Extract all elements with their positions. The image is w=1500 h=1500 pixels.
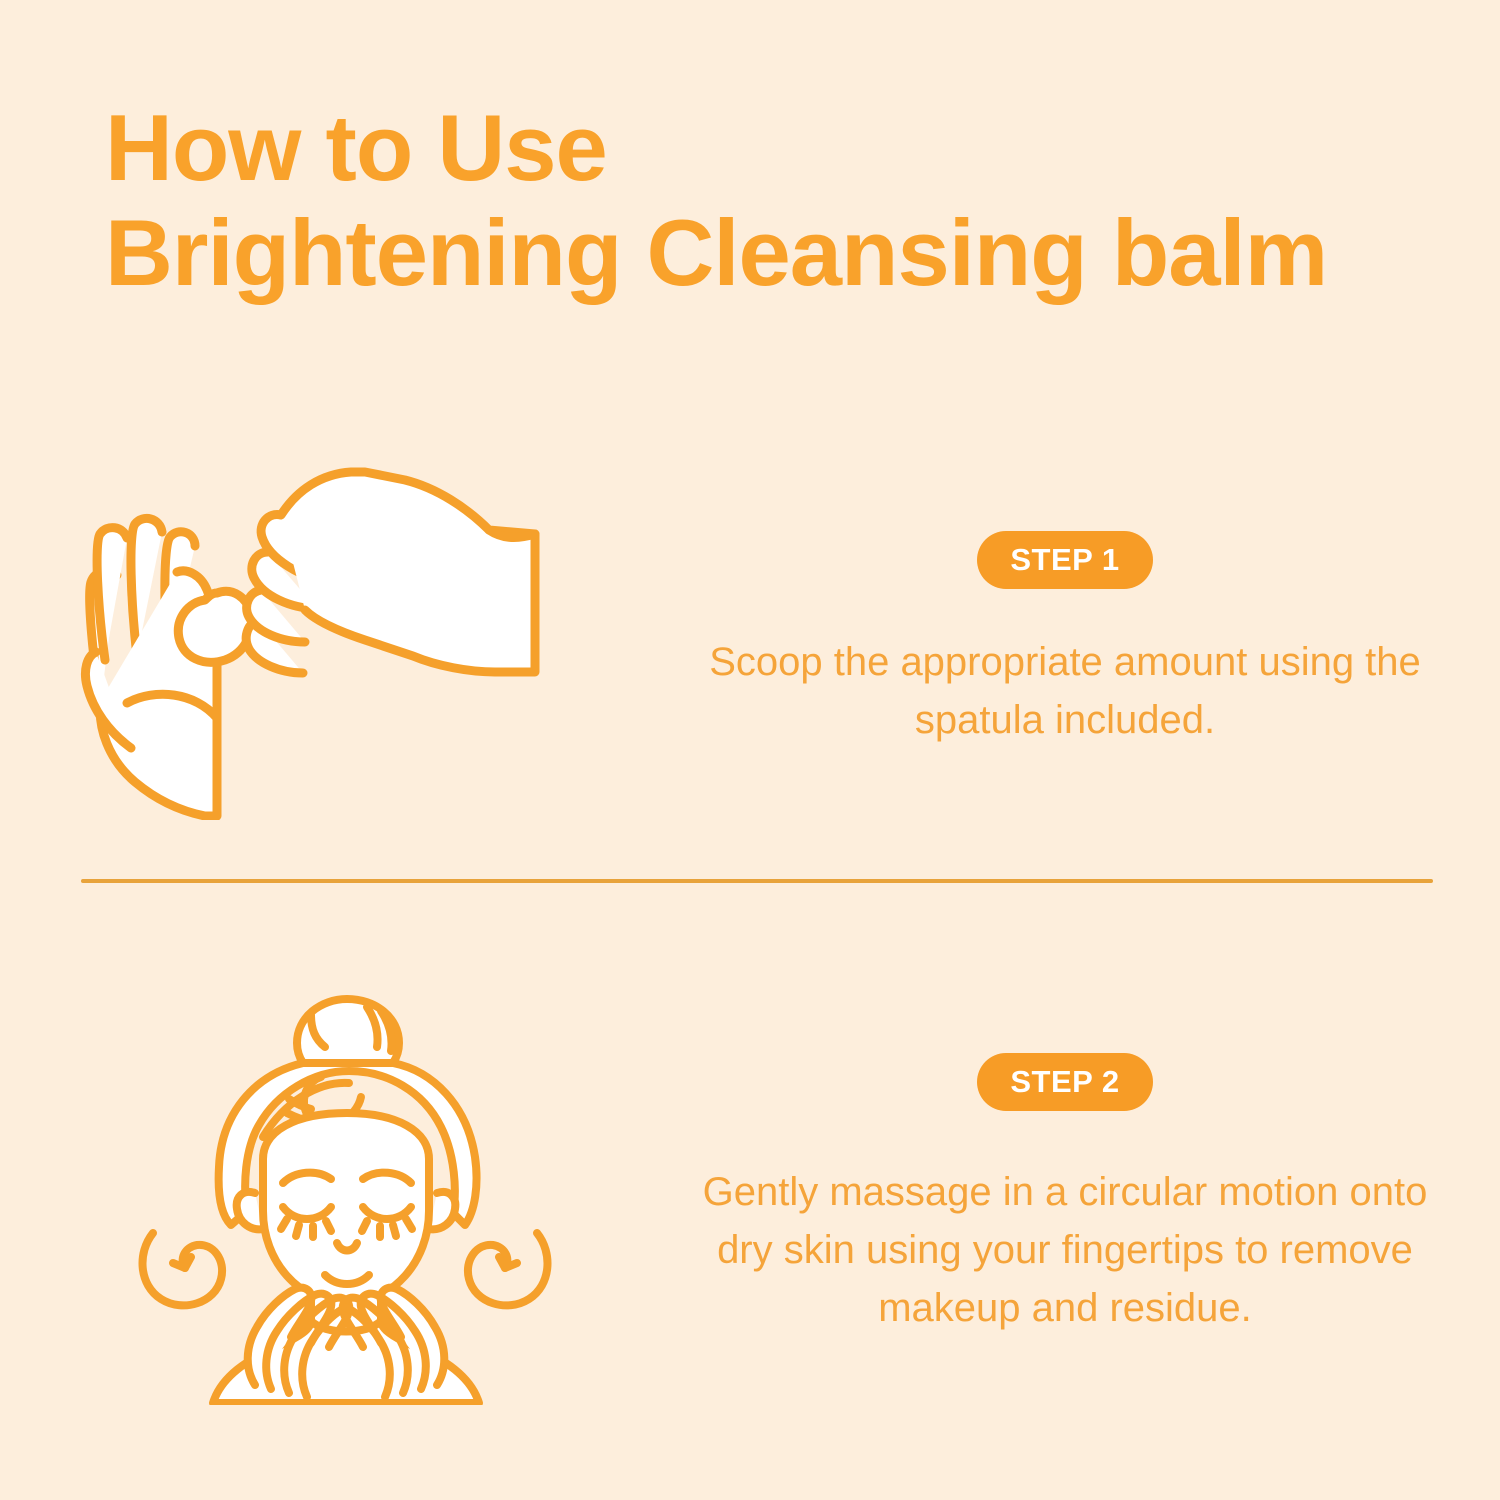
step-section-1: STEP 1 Scoop the appropriate amount usin… bbox=[0, 430, 1500, 850]
page-title-line-1: How to Use bbox=[105, 95, 1405, 200]
page-title-line-2: Brightening Cleansing balm bbox=[105, 200, 1405, 305]
step-1-illustration-container bbox=[0, 460, 690, 820]
step-2-illustration-container bbox=[0, 985, 690, 1405]
step-2-badge: STEP 2 bbox=[977, 1053, 1152, 1111]
step-2-text-container: STEP 2 Gently massage in a circular moti… bbox=[690, 1053, 1500, 1337]
step-1-text-container: STEP 1 Scoop the appropriate amount usin… bbox=[690, 531, 1500, 749]
hands-with-spatula-icon bbox=[65, 460, 625, 820]
step-2-description: Gently massage in a circular motion onto… bbox=[690, 1163, 1440, 1337]
circular-motion-swirl-right-icon bbox=[468, 1233, 548, 1305]
step-1-badge: STEP 1 bbox=[977, 531, 1152, 589]
section-divider bbox=[81, 879, 1433, 883]
page-title: How to Use Brightening Cleansing balm bbox=[105, 95, 1405, 306]
woman-massaging-face-icon bbox=[135, 985, 555, 1405]
circular-motion-swirl-left-icon bbox=[143, 1233, 223, 1305]
step-1-description: Scoop the appropriate amount using the s… bbox=[705, 633, 1425, 749]
how-to-use-infographic: How to Use Brightening Cleansing balm bbox=[0, 0, 1500, 1500]
step-section-2: STEP 2 Gently massage in a circular moti… bbox=[0, 960, 1500, 1430]
